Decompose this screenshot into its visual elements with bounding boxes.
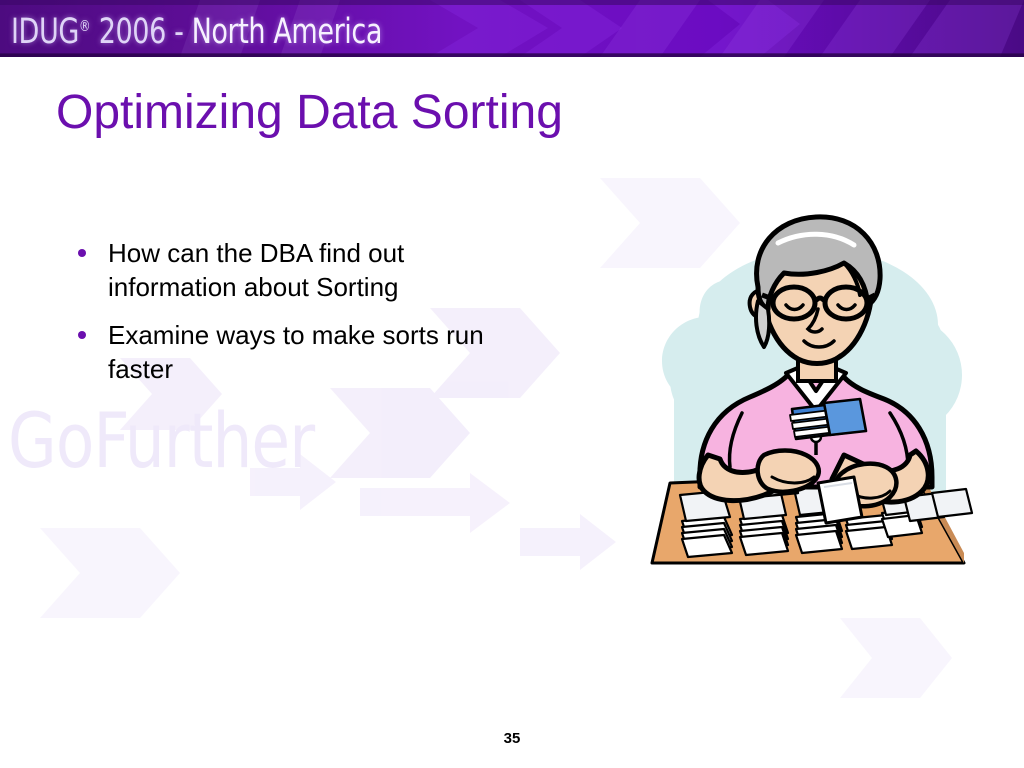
page-number: 35 (0, 730, 1024, 747)
header-brand: IDUG (11, 12, 79, 52)
header-banner: IDUG® 2006 - North America (0, 0, 1024, 57)
header-region: North America (192, 12, 382, 52)
header-year: 2006 (99, 12, 166, 52)
bullet-text: Examine ways to make sorts run faster (108, 318, 502, 386)
woman-sorting-cards-illustration (646, 205, 976, 570)
registered-trademark-icon: ® (79, 17, 91, 35)
gofurther-watermark: GoFurther (8, 398, 314, 484)
list-item: How can the DBA find out information abo… (72, 236, 502, 304)
list-item: Examine ways to make sorts run faster (72, 318, 502, 386)
header-separator: - (174, 12, 183, 52)
bullet-point-icon (72, 236, 108, 257)
bullet-list: How can the DBA find out information abo… (72, 236, 502, 400)
page-title: Optimizing Data Sorting (56, 84, 563, 142)
bullet-text: How can the DBA find out information abo… (108, 236, 502, 304)
header-title: IDUG® 2006 - North America (11, 4, 382, 54)
white-card-in-hand (818, 477, 862, 523)
slide-root: GoFurther (0, 0, 1024, 768)
bullet-point-icon (72, 318, 108, 339)
